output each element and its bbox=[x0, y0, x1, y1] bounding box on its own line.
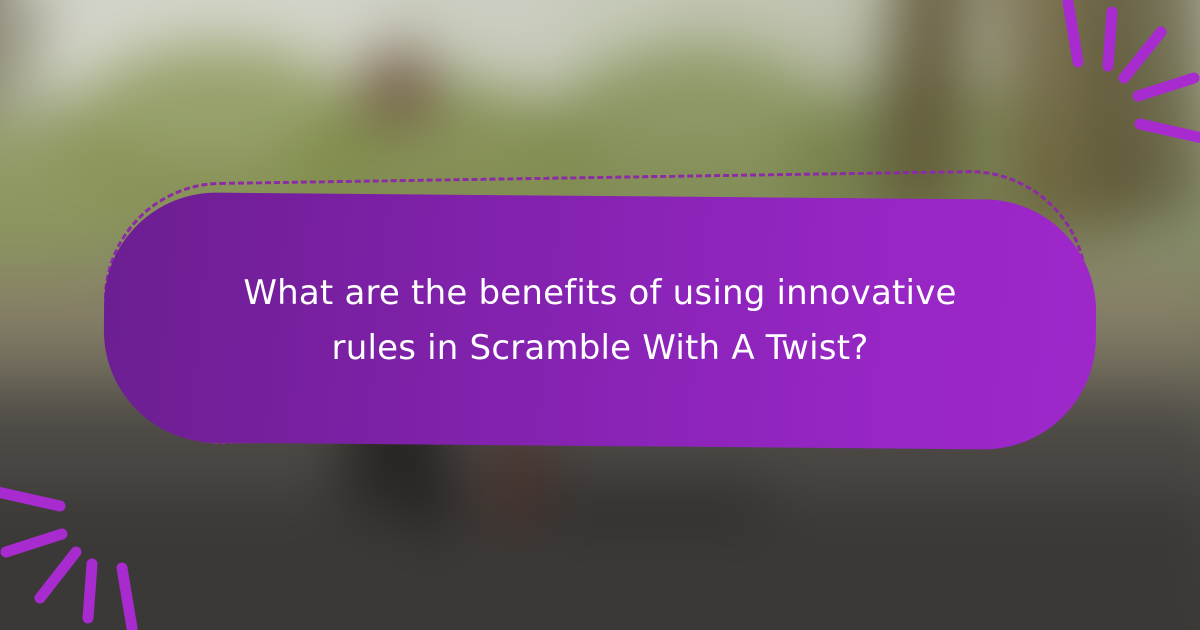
background-subject-head bbox=[356, 45, 441, 130]
background-shadow bbox=[536, 479, 769, 521]
question-text: What are the benefits of using innovativ… bbox=[210, 266, 990, 376]
sparkle-burst-icon bbox=[0, 450, 184, 630]
question-card: What are the benefits of using innovativ… bbox=[103, 192, 1097, 451]
question-line-2: rules in Scramble With A Twist? bbox=[332, 328, 869, 368]
question-line-1: What are the benefits of using innovativ… bbox=[243, 273, 956, 313]
sparkle-burst-icon bbox=[1016, 0, 1200, 180]
social-card-canvas: What are the benefits of using innovativ… bbox=[0, 0, 1200, 630]
